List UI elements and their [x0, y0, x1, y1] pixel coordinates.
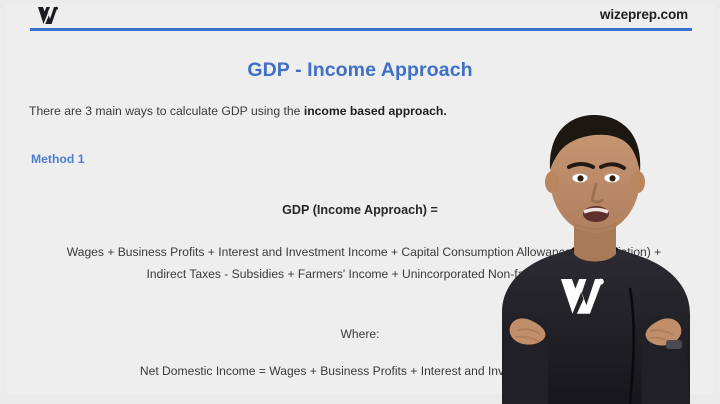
where-label: Where:	[0, 327, 720, 341]
formula-line-1: Wages + Business Profits + Interest and …	[38, 241, 690, 263]
slide-content: GDP - Income Approach There are 3 main w…	[0, 36, 720, 404]
method-1-heading: Method 1	[31, 152, 85, 166]
formula-line-2: Indirect Taxes - Subsidies + Farmers' In…	[38, 263, 690, 285]
intro-text-bold: income based approach.	[304, 104, 447, 118]
page-title: GDP - Income Approach	[0, 59, 720, 82]
formula-block: Wages + Business Profits + Interest and …	[38, 241, 690, 285]
brand-url: wizeprep.com	[600, 7, 688, 22]
intro-text-normal: There are 3 main ways to calculate GDP u…	[29, 104, 304, 118]
formula-heading: GDP (Income Approach) =	[0, 203, 720, 217]
lecture-slide: wizeprep.com GDP - Income Approach There…	[0, 0, 720, 404]
intro-text: There are 3 main ways to calculate GDP u…	[29, 104, 447, 118]
slide-header: wizeprep.com	[0, 0, 720, 36]
net-domestic-income-equation: Net Domestic Income = Wages + Business P…	[40, 364, 690, 378]
header-divider	[30, 28, 692, 31]
wizeprep-w-logo-icon	[34, 5, 68, 27]
